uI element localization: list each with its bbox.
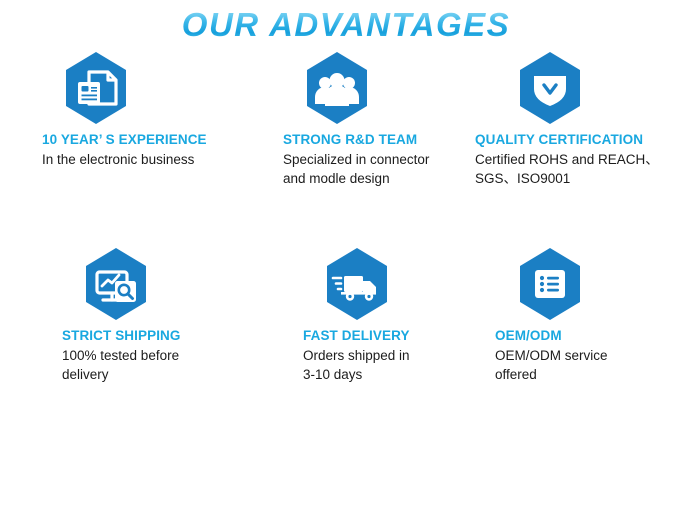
feature-body: Orders shipped in 3-10 days [303, 346, 458, 384]
feature-heading: FAST DELIVERY [303, 327, 458, 345]
feature-card-quality-certification: QUALITY CERTIFICATION Certified ROHS and… [458, 52, 692, 248]
delivery-truck-icon [325, 248, 389, 320]
feature-body: In the electronic business [42, 150, 241, 169]
feature-card-experience: 10 YEAR’ S EXPERIENCE In the electronic … [0, 52, 241, 248]
feature-body: Specialized in connector and modle desig… [283, 150, 458, 188]
advantages-row-1: 10 YEAR’ S EXPERIENCE In the electronic … [0, 52, 692, 248]
feature-body: Certified ROHS and REACH、 SGS、ISO9001 [475, 150, 692, 188]
feature-body: OEM/ODM service offered [495, 346, 692, 384]
feature-card-strict-shipping: STRICT SHIPPING 100% tested before deliv… [0, 248, 241, 448]
feature-heading: STRONG R&D TEAM [283, 131, 458, 149]
shield-check-icon [518, 52, 582, 124]
monitor-inspection-icon [84, 248, 148, 320]
feature-card-oem-odm: OEM/ODM OEM/ODM service offered [458, 248, 692, 448]
checklist-icon [518, 248, 582, 320]
feature-heading: QUALITY CERTIFICATION [475, 131, 692, 149]
feature-heading: STRICT SHIPPING [62, 327, 241, 345]
advantages-row-2: STRICT SHIPPING 100% tested before deliv… [0, 248, 692, 448]
feature-card-fast-delivery: FAST DELIVERY Orders shipped in 3-10 day… [241, 248, 458, 448]
document-stack-icon [64, 52, 128, 124]
page-title: OUR ADVANTAGES [182, 8, 510, 41]
feature-card-rd-team: STRONG R&D TEAM Specialized in connector… [241, 52, 458, 248]
advantages-grid: 10 YEAR’ S EXPERIENCE In the electronic … [0, 52, 692, 448]
feature-heading: 10 YEAR’ S EXPERIENCE [42, 131, 241, 149]
people-group-icon [305, 52, 369, 124]
feature-heading: OEM/ODM [495, 327, 692, 345]
feature-body: 100% tested before delivery [62, 346, 241, 384]
